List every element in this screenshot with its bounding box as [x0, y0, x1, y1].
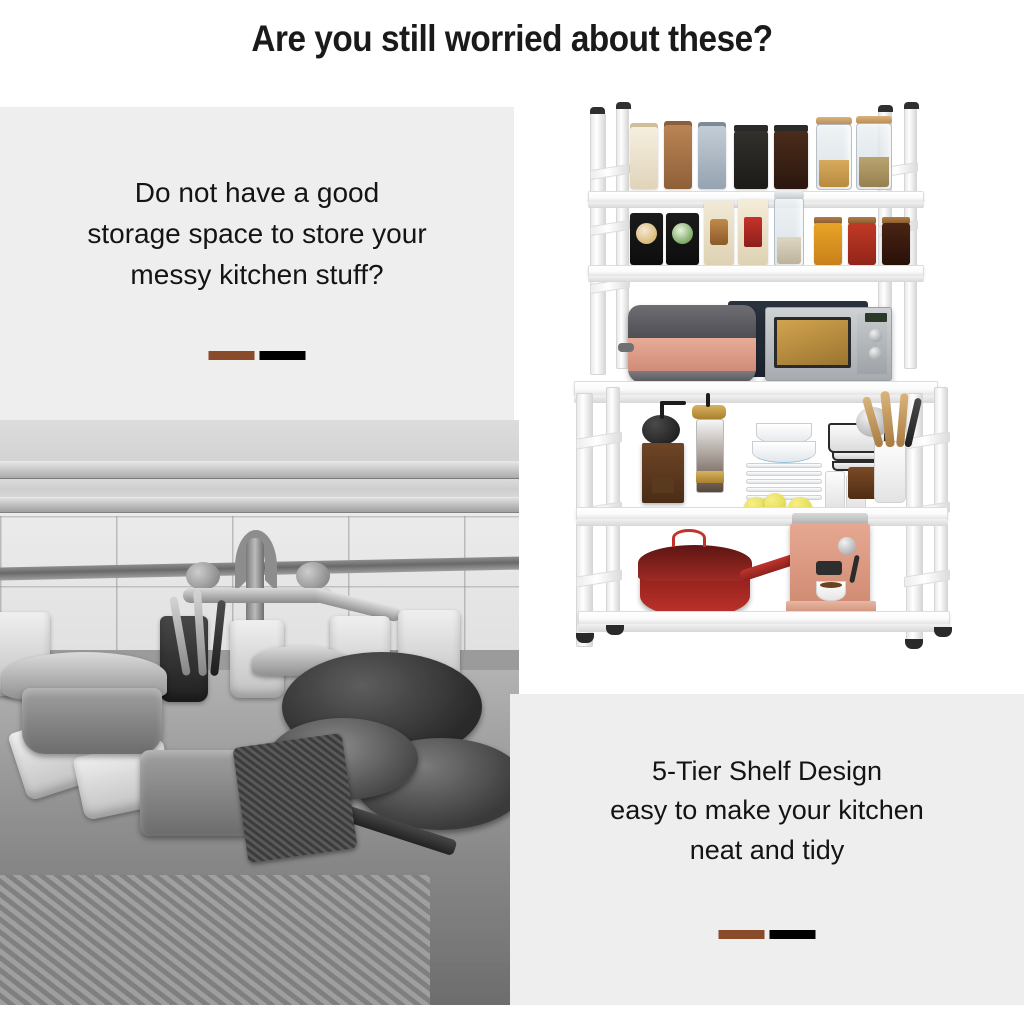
faucet-arm	[183, 588, 333, 603]
jar-dark-jam	[882, 223, 910, 265]
utensil-crock	[874, 441, 906, 503]
red-pan-lid	[638, 545, 752, 581]
shelf-board-edge-tier-5	[578, 624, 950, 632]
plate	[746, 487, 822, 492]
divider-segment-black	[260, 351, 306, 360]
glass-jar-pasta	[816, 124, 852, 190]
copy-panel-problem-text: Do not have a good storage space to stor…	[0, 173, 514, 296]
pipe-valve-right	[296, 562, 330, 590]
post-cap	[878, 105, 893, 112]
canister-cocoa-label	[710, 219, 728, 245]
shelf-board-edge-tier-4	[576, 519, 948, 526]
red-pan-lid-knob	[672, 529, 706, 547]
coffee-grinder-wood-box	[642, 443, 684, 503]
espresso-pressure-dial	[838, 537, 856, 555]
glass-jar-grain	[856, 123, 892, 190]
copy-line-3: messy kitchen stuff?	[24, 255, 490, 296]
rice-cooker-body	[628, 338, 756, 372]
copy-line-1: 5-Tier Shelf Design	[532, 752, 1002, 791]
post-cap	[904, 102, 919, 109]
rice-cooker-handle	[618, 343, 634, 352]
page-title: Are you still worried about these?	[51, 18, 973, 60]
shelf-foot-left-front	[576, 633, 594, 643]
copy-panel-problem: Do not have a good storage space to stor…	[0, 107, 514, 420]
pipe-valve-left	[186, 562, 220, 590]
tea-box-label	[672, 223, 693, 244]
brass-grinder-crank	[706, 393, 710, 407]
scrub-sponge	[232, 733, 357, 863]
tea-box-label	[636, 223, 657, 244]
copy-line-2: easy to make your kitchen	[532, 791, 1002, 830]
salt-shaker	[825, 471, 845, 509]
brass-grinder-band	[696, 471, 724, 483]
product-shelf-image	[560, 105, 980, 685]
post-cap	[590, 107, 605, 114]
shelf-foot-right-back	[934, 627, 952, 637]
divider-accent-solution	[719, 930, 816, 939]
dirty-saucepan	[140, 750, 250, 836]
shelf-board-tier-5	[578, 611, 950, 625]
jar-preserve	[774, 131, 808, 189]
copy-line-1: Do not have a good	[24, 173, 490, 214]
jar-orange-honey	[814, 223, 842, 265]
coffee-grinder-crank-arm	[660, 401, 686, 405]
bowl-blue-rim	[752, 441, 816, 463]
coffee-grinder-drawer	[652, 477, 674, 493]
shelf-foot-right-front	[905, 639, 923, 649]
wall-ledge-upper	[0, 462, 519, 478]
microwave-knob-lower	[869, 347, 882, 360]
faucet-stem	[246, 538, 264, 630]
canister-oatmeal-blue	[698, 126, 726, 189]
brass-grinder-top	[692, 405, 726, 419]
kitchen-towel	[0, 875, 430, 1005]
hutch-post-left-front	[590, 113, 606, 375]
clamp-jar-lid	[774, 191, 804, 199]
rice-cooker	[628, 305, 756, 383]
rice-cooker-lid	[628, 305, 756, 341]
canister-honey	[664, 125, 692, 189]
jar-contents-flour	[777, 237, 801, 264]
divider-segment-brown	[209, 351, 255, 360]
divider-segment-black	[770, 930, 816, 939]
coffee-grinder-dome	[642, 415, 680, 445]
canister-oatmeal	[630, 127, 658, 189]
canister-red-label-sticker	[744, 217, 762, 247]
jar-contents-grain	[859, 157, 889, 187]
divider-accent-problem	[209, 351, 306, 360]
copy-panel-solution-text: 5-Tier Shelf Design easy to make your ki…	[510, 752, 1024, 870]
copy-line-3: neat and tidy	[532, 831, 1002, 870]
jar-contents-pasta	[819, 160, 849, 187]
messy-kitchen-photo	[0, 420, 519, 1005]
plate	[746, 471, 822, 476]
microwave-knob-upper	[869, 329, 882, 342]
shelf-board-edge-tier-2	[588, 276, 924, 282]
product-infographic-page: Are you still worried about these? Do no…	[0, 0, 1024, 1024]
jar-red-sauce	[848, 223, 876, 265]
microwave-door-window	[774, 317, 852, 369]
microwave-control-panel	[857, 314, 887, 374]
clamp-glass-jar	[774, 197, 804, 267]
plate	[746, 463, 822, 468]
plate	[746, 479, 822, 484]
dirty-pot	[22, 688, 162, 754]
post-cap	[616, 102, 631, 109]
espresso-coffee-surface	[820, 582, 842, 588]
copy-panel-solution: 5-Tier Shelf Design easy to make your ki…	[510, 694, 1024, 1005]
jar-dark-preserve	[734, 131, 768, 189]
copy-line-2: storage space to store your	[24, 214, 490, 255]
divider-segment-brown	[719, 930, 765, 939]
wall-ledge-lower	[0, 498, 519, 512]
espresso-group-head	[816, 561, 842, 575]
microwave-display	[865, 313, 887, 322]
shelf-foot-left-back	[606, 625, 624, 635]
